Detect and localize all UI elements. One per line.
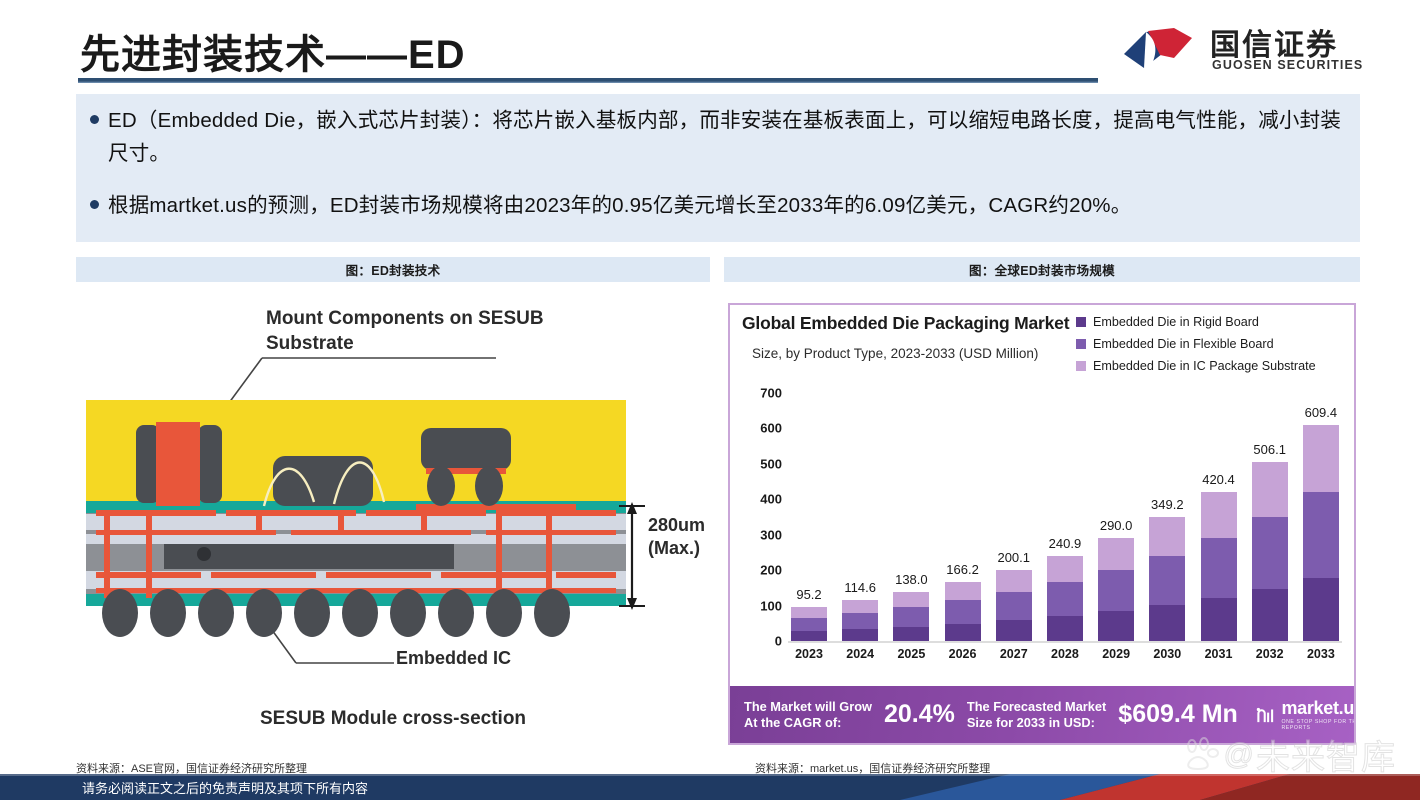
- x-axis-tick: 2033: [1300, 647, 1342, 661]
- bar-column: 166.2: [942, 393, 984, 641]
- bar-segment: [1149, 605, 1185, 641]
- bar-segment: [842, 629, 878, 641]
- bar-segment: [791, 618, 827, 631]
- bar-stack: [842, 600, 878, 641]
- market-us-logo: market.us ONE STOP SHOP FOR THE REPORTS: [1256, 698, 1354, 731]
- bar-segment: [1201, 598, 1237, 641]
- bar-segment: [893, 627, 929, 641]
- chart-y-axis: 0100200300400500600700: [740, 393, 786, 641]
- bar-segment: [791, 607, 827, 617]
- legend-swatch-icon: [1076, 361, 1086, 371]
- chart-summary-banner: The Market will Grow At the CAGR of: 20.…: [730, 686, 1354, 743]
- bar-column: 349.2: [1146, 393, 1188, 641]
- bar-column: 290.0: [1095, 393, 1137, 641]
- bar-segment: [1252, 517, 1288, 589]
- bar-stack: [1303, 425, 1339, 641]
- bar-segment: [893, 607, 929, 627]
- y-axis-tick: 0: [775, 634, 782, 649]
- y-axis-tick: 400: [760, 492, 782, 507]
- bar-value-label: 420.4: [1202, 472, 1235, 487]
- page-title: 先进封装技术——ED: [80, 22, 466, 80]
- bar-column: 240.9: [1044, 393, 1086, 641]
- bar-column: 138.0: [890, 393, 932, 641]
- bar-segment: [1252, 462, 1288, 518]
- bar-segment: [996, 620, 1032, 641]
- footer-text: 请务必阅读正文之后的免责声明及其项下所有内容: [82, 778, 368, 797]
- legend-label: Embedded Die in Rigid Board: [1093, 315, 1259, 329]
- content-text-panel: ED（Embedded Die，嵌入式芯片封装）：将芯片嵌入基板内部，而非安装在…: [76, 94, 1360, 242]
- bar-segment: [996, 570, 1032, 592]
- x-axis-tick: 2027: [993, 647, 1035, 661]
- x-axis-tick: 2025: [890, 647, 932, 661]
- bar-column: 506.1: [1249, 393, 1291, 641]
- header-divider: [78, 78, 1098, 83]
- brand-tagline: ONE STOP SHOP FOR THE REPORTS: [1281, 719, 1354, 731]
- bar-value-label: 506.1: [1253, 442, 1286, 457]
- market-us-wordmark: market.us ONE STOP SHOP FOR THE REPORTS: [1281, 698, 1354, 731]
- bar-segment: [1149, 517, 1185, 555]
- dimension-label: 280um (Max.): [648, 514, 710, 560]
- bar-column: 95.2: [788, 393, 830, 641]
- bar-segment: [945, 582, 981, 600]
- bullet-text: ED（Embedded Die，嵌入式芯片封装）：将芯片嵌入基板内部，而非安装在…: [108, 104, 1346, 170]
- sesub-cross-section-figure: Mount Components on SESUB Substrate: [76, 288, 710, 756]
- bar-stack: [1098, 538, 1134, 641]
- chart-subtitle: Size, by Product Type, 2023-2033 (USD Mi…: [752, 346, 1038, 361]
- bar-column: 420.4: [1198, 393, 1240, 641]
- bar-column: 609.4: [1300, 393, 1342, 641]
- x-axis-tick: 2023: [788, 647, 830, 661]
- chart-title: Global Embedded Die Packaging Market: [742, 313, 1069, 334]
- legend-label: Embedded Die in IC Package Substrate: [1093, 359, 1316, 373]
- bar-stack: [791, 607, 827, 641]
- bar-stack: [1252, 462, 1288, 641]
- bar-segment: [842, 600, 878, 613]
- y-axis-tick: 600: [760, 421, 782, 436]
- bar-value-label: 114.6: [844, 580, 876, 595]
- bar-segment: [1047, 556, 1083, 582]
- bar-value-label: 138.0: [895, 572, 928, 587]
- bar-value-label: 240.9: [1049, 536, 1082, 551]
- bar-segment: [842, 613, 878, 629]
- chart-x-axis: 2023202420252026202720282029203020312032…: [788, 647, 1342, 661]
- bar-segment: [945, 624, 981, 641]
- bar-segment: [996, 592, 1032, 620]
- bullet-text: 根据martket.us的预测，ED封装市场规模将由2023年的0.95亿美元增…: [108, 189, 1131, 222]
- bar-value-label: 290.0: [1100, 518, 1133, 533]
- legend-label: Embedded Die in Flexible Board: [1093, 337, 1274, 351]
- y-axis-tick: 700: [760, 386, 782, 401]
- cagr-label: The Market will Grow At the CAGR of:: [744, 699, 872, 731]
- x-axis-tick: 2030: [1146, 647, 1188, 661]
- chart-legend: Embedded Die in Rigid Board Embedded Die…: [1076, 315, 1316, 381]
- bullet-dot-icon: [90, 115, 99, 124]
- bar-segment: [1303, 492, 1339, 578]
- company-logo: 国信证券 GUOSEN SECURITIES: [1122, 18, 1352, 80]
- chart-plot-area: 0100200300400500600700 95.2114.6138.0166…: [740, 393, 1348, 678]
- y-axis-tick: 100: [760, 598, 782, 613]
- bar-segment: [1047, 582, 1083, 616]
- bullet-item: ED（Embedded Die，嵌入式芯片封装）：将芯片嵌入基板内部，而非安装在…: [90, 104, 1346, 170]
- chart-bars: 95.2114.6138.0166.2200.1240.9290.0349.24…: [788, 393, 1342, 641]
- sesub-diagram: [76, 288, 710, 756]
- forecast-label: The Forecasted Market Size for 2033 in U…: [967, 699, 1106, 731]
- bar-segment: [1098, 611, 1134, 641]
- cagr-value: 20.4%: [884, 700, 955, 729]
- bar-segment: [1303, 425, 1339, 492]
- bar-stack: [945, 582, 981, 641]
- figure-caption-right: 图：全球ED封装市场规模: [724, 257, 1360, 282]
- bar-column: 114.6: [839, 393, 881, 641]
- guosen-logo-mark: [1122, 24, 1194, 72]
- bar-stack: [1201, 492, 1237, 641]
- bar-value-label: 609.4: [1305, 405, 1338, 420]
- bar-segment: [1252, 589, 1288, 641]
- bar-segment: [1201, 492, 1237, 538]
- bar-segment: [1201, 538, 1237, 598]
- market-us-mark-icon: [1256, 704, 1277, 726]
- bar-value-label: 349.2: [1151, 497, 1184, 512]
- legend-item: Embedded Die in Flexible Board: [1076, 337, 1316, 351]
- x-axis-tick: 2029: [1095, 647, 1137, 661]
- bar-segment: [945, 600, 981, 624]
- x-axis-tick: 2031: [1198, 647, 1240, 661]
- bar-stack: [1149, 517, 1185, 641]
- figure-caption-left: 图：ED封装技术: [76, 257, 710, 282]
- x-axis-tick: 2024: [839, 647, 881, 661]
- sesub-bottom-label: SESUB Module cross-section: [76, 708, 710, 730]
- x-axis-tick: 2028: [1044, 647, 1086, 661]
- y-axis-tick: 200: [760, 563, 782, 578]
- legend-item: Embedded Die in Rigid Board: [1076, 315, 1316, 329]
- bar-segment: [1303, 578, 1339, 641]
- x-axis-tick: 2026: [942, 647, 984, 661]
- forecast-value: $609.4 Mn: [1118, 700, 1238, 729]
- bar-segment: [791, 631, 827, 641]
- slide-header: 先进封装技术——ED 国信证券 GUOSEN SECURITIES: [0, 0, 1420, 90]
- y-axis-tick: 500: [760, 456, 782, 471]
- legend-swatch-icon: [1076, 317, 1086, 327]
- bar-value-label: 166.2: [946, 562, 979, 577]
- bar-value-label: 200.1: [997, 550, 1030, 565]
- bar-segment: [1098, 570, 1134, 611]
- bullet-dot-icon: [90, 200, 99, 209]
- bullet-item: 根据martket.us的预测，ED封装市场规模将由2023年的0.95亿美元增…: [90, 189, 1346, 222]
- logo-text-en: GUOSEN SECURITIES: [1212, 58, 1363, 72]
- bar-stack: [1047, 556, 1083, 641]
- slide-footer: 请务必阅读正文之后的免责声明及其项下所有内容: [0, 774, 1420, 800]
- chart-axis-line: [788, 641, 1342, 643]
- bar-stack: [996, 570, 1032, 641]
- brand-name: market.us: [1281, 698, 1354, 719]
- bar-segment: [893, 592, 929, 607]
- market-size-chart: Global Embedded Die Packaging Market Siz…: [728, 303, 1356, 745]
- bar-stack: [893, 592, 929, 641]
- bar-column: 200.1: [993, 393, 1035, 641]
- x-axis-tick: 2032: [1249, 647, 1291, 661]
- legend-item: Embedded Die in IC Package Substrate: [1076, 359, 1316, 373]
- y-axis-tick: 300: [760, 527, 782, 542]
- embedded-ic-label: Embedded IC: [396, 648, 511, 669]
- bar-segment: [1149, 556, 1185, 605]
- bar-segment: [1047, 616, 1083, 641]
- legend-swatch-icon: [1076, 339, 1086, 349]
- bar-segment: [1098, 538, 1134, 570]
- bar-value-label: 95.2: [796, 587, 821, 602]
